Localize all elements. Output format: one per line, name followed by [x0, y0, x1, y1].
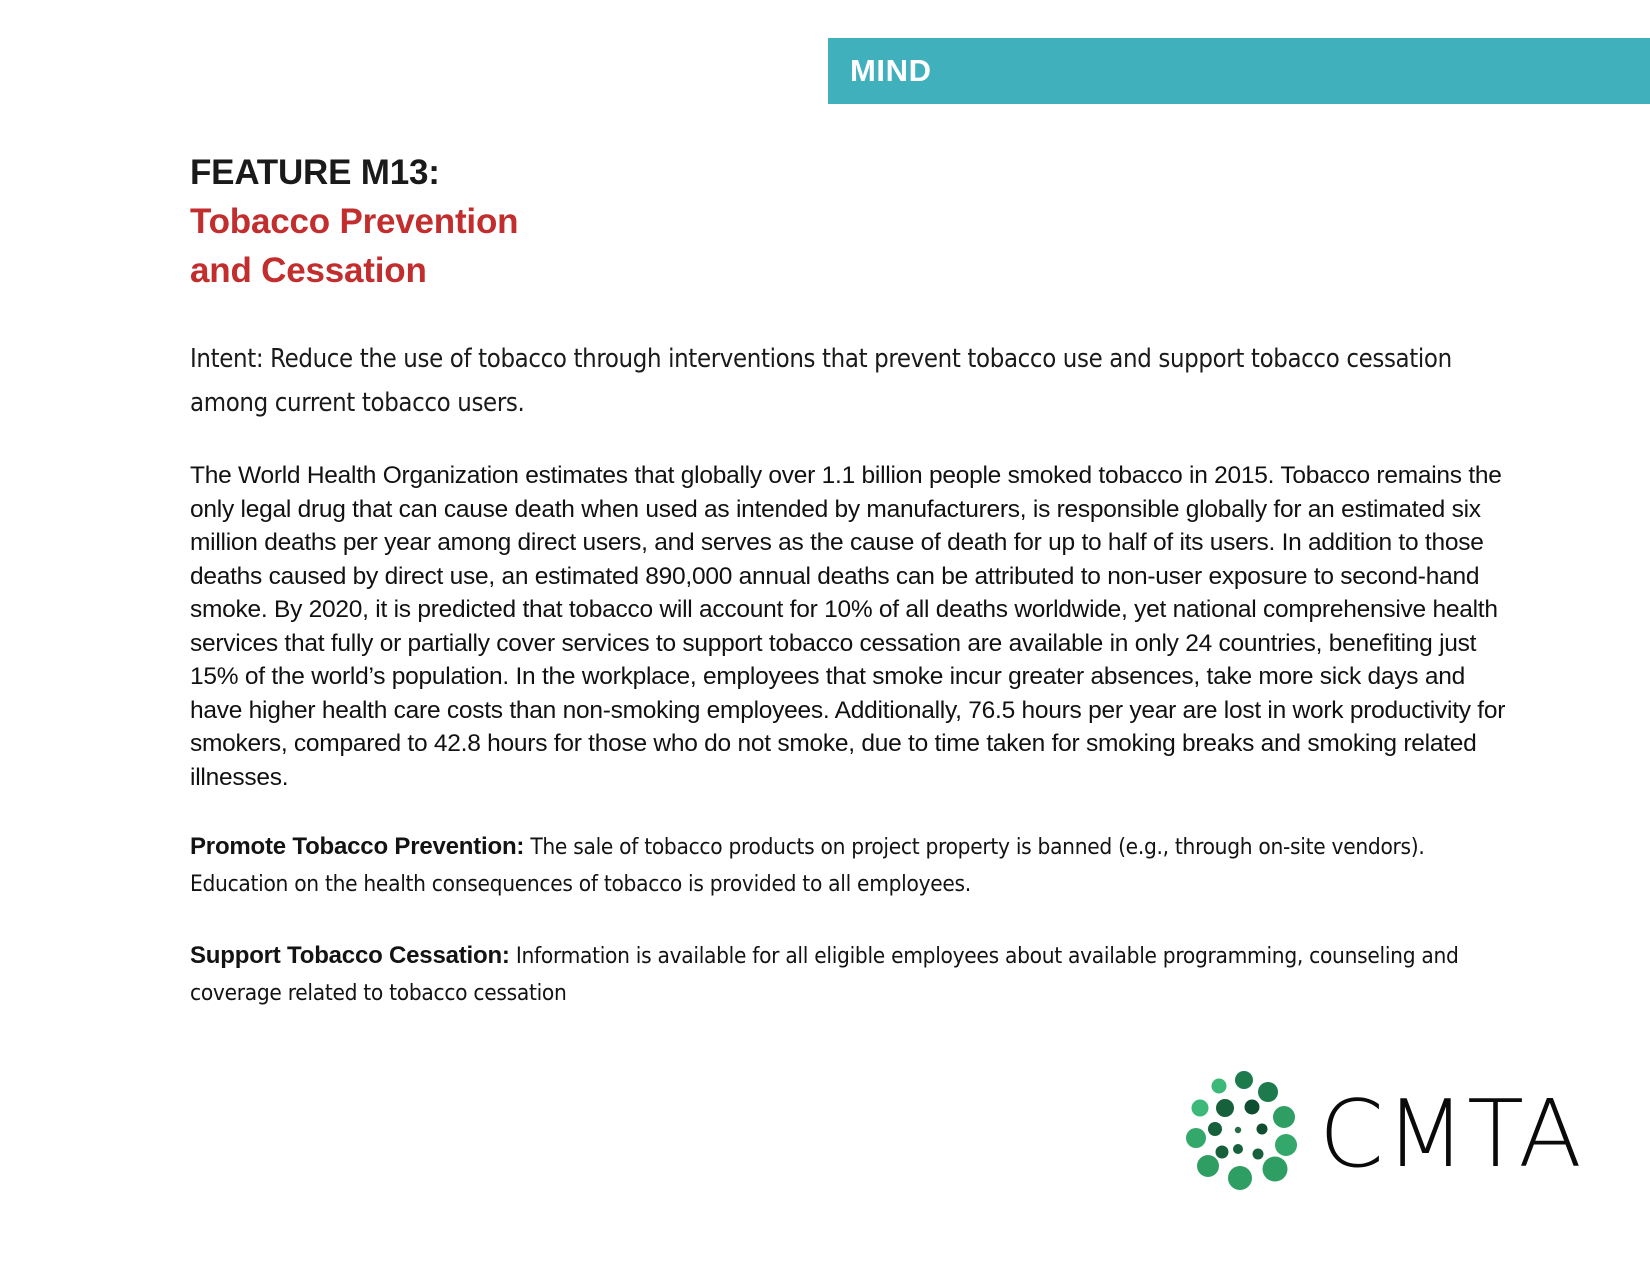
feature-number: FEATURE M13: [190, 148, 1508, 197]
feature-name-line2: and Cessation [190, 246, 1508, 295]
section-banner-label: MIND [850, 53, 932, 89]
section-banner: MIND [828, 38, 1650, 104]
cmta-wordmark: CMTA [1319, 1088, 1583, 1181]
feature-name-line1: Tobacco Prevention [190, 197, 1508, 246]
intent-paragraph: Intent: Reduce the use of tobacco throug… [190, 337, 1460, 425]
requirement-label: Support Tobacco Cessation: [190, 942, 510, 969]
body-paragraph: The World Health Organization estimates … [190, 459, 1508, 794]
page-content: FEATURE M13: Tobacco Prevention and Cess… [190, 148, 1508, 1012]
cmta-logo: CMTA [1182, 1068, 1602, 1193]
requirement-label: Promote Tobacco Prevention: [190, 833, 524, 860]
page-title: FEATURE M13: Tobacco Prevention and Cess… [190, 148, 1508, 295]
requirement-support-cessation: Support Tobacco Cessation: Information i… [190, 937, 1508, 1012]
cmta-dot-cluster-icon [1182, 1068, 1307, 1193]
requirement-promote-prevention: Promote Tobacco Prevention: The sale of … [190, 828, 1508, 903]
